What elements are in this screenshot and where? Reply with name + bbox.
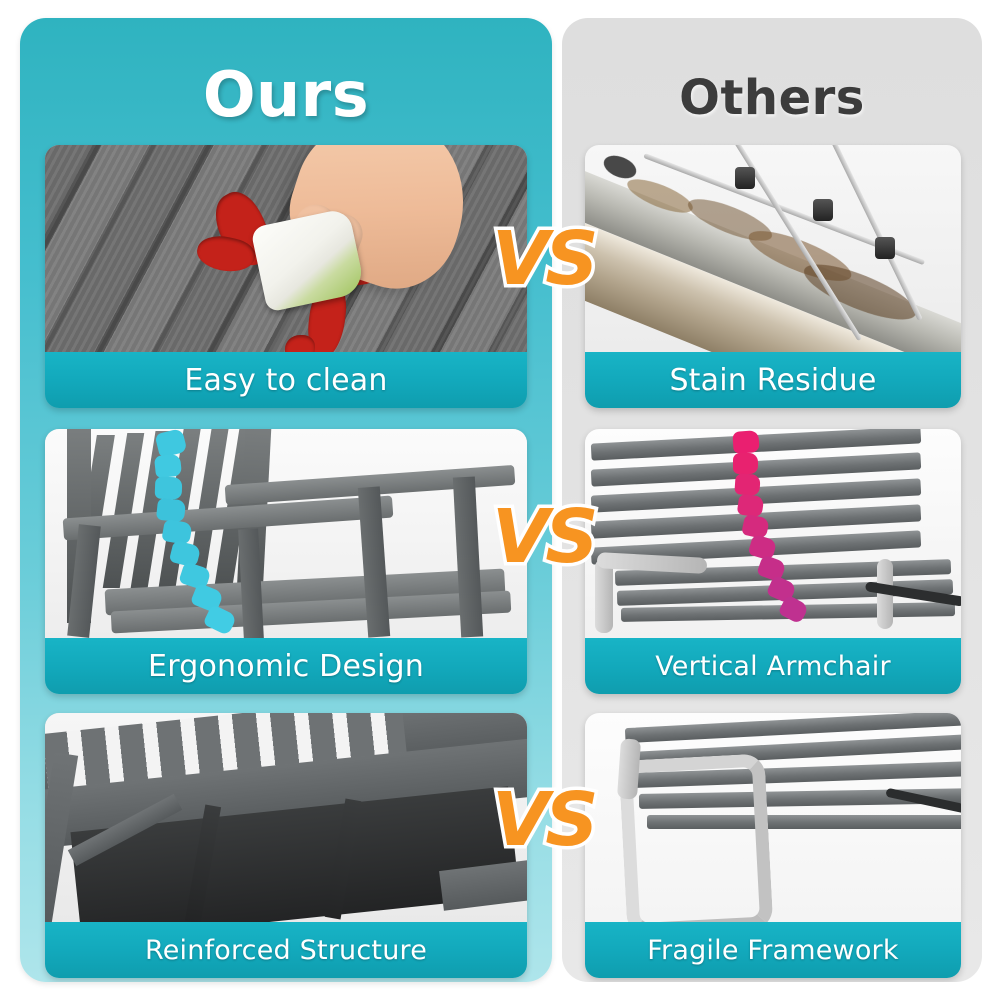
card-ours-easy-to-clean: Easy to clean: [45, 145, 527, 408]
caption-others-row3: Fragile Framework: [585, 922, 961, 978]
comparison-graphic: Ours Easy to clean: [0, 0, 1000, 1000]
photo-fragile-leg: [585, 713, 961, 922]
card-others-fragile-framework: Fragile Framework: [585, 713, 961, 978]
vs-badge-row3: VS: [492, 783, 595, 857]
caption-others-row2: Vertical Armchair: [585, 638, 961, 694]
caption-ours-row1: Easy to clean: [45, 352, 527, 408]
photo-deck-cleaning: [45, 145, 527, 352]
caption-ours-row2: Ergonomic Design: [45, 638, 527, 694]
card-ours-ergonomic-design: Ergonomic Design: [45, 429, 527, 694]
others-panel-title: Others: [562, 70, 982, 126]
card-ours-reinforced-structure: Reinforced Structure: [45, 713, 527, 978]
ours-panel: Ours Easy to clean: [20, 18, 552, 982]
others-panel: Others Stain Residue: [562, 18, 982, 982]
photo-vertical-bench: [585, 429, 961, 638]
card-others-vertical-armchair: Vertical Armchair: [585, 429, 961, 694]
photo-reinforced-underside: [45, 713, 527, 922]
card-others-stain-residue: Stain Residue: [585, 145, 961, 408]
ours-panel-title: Ours: [20, 58, 552, 131]
vs-badge-row2: VS: [492, 500, 595, 574]
vs-badge-row1: VS: [492, 222, 595, 296]
vs-badge-label-row1: VS: [492, 216, 595, 302]
caption-others-row1: Stain Residue: [585, 352, 961, 408]
photo-stained-rack: [585, 145, 961, 352]
vs-badge-label-row3: VS: [492, 777, 595, 863]
photo-ergonomic-bench: [45, 429, 527, 638]
caption-ours-row3: Reinforced Structure: [45, 922, 527, 978]
vs-badge-label-row2: VS: [492, 494, 595, 580]
